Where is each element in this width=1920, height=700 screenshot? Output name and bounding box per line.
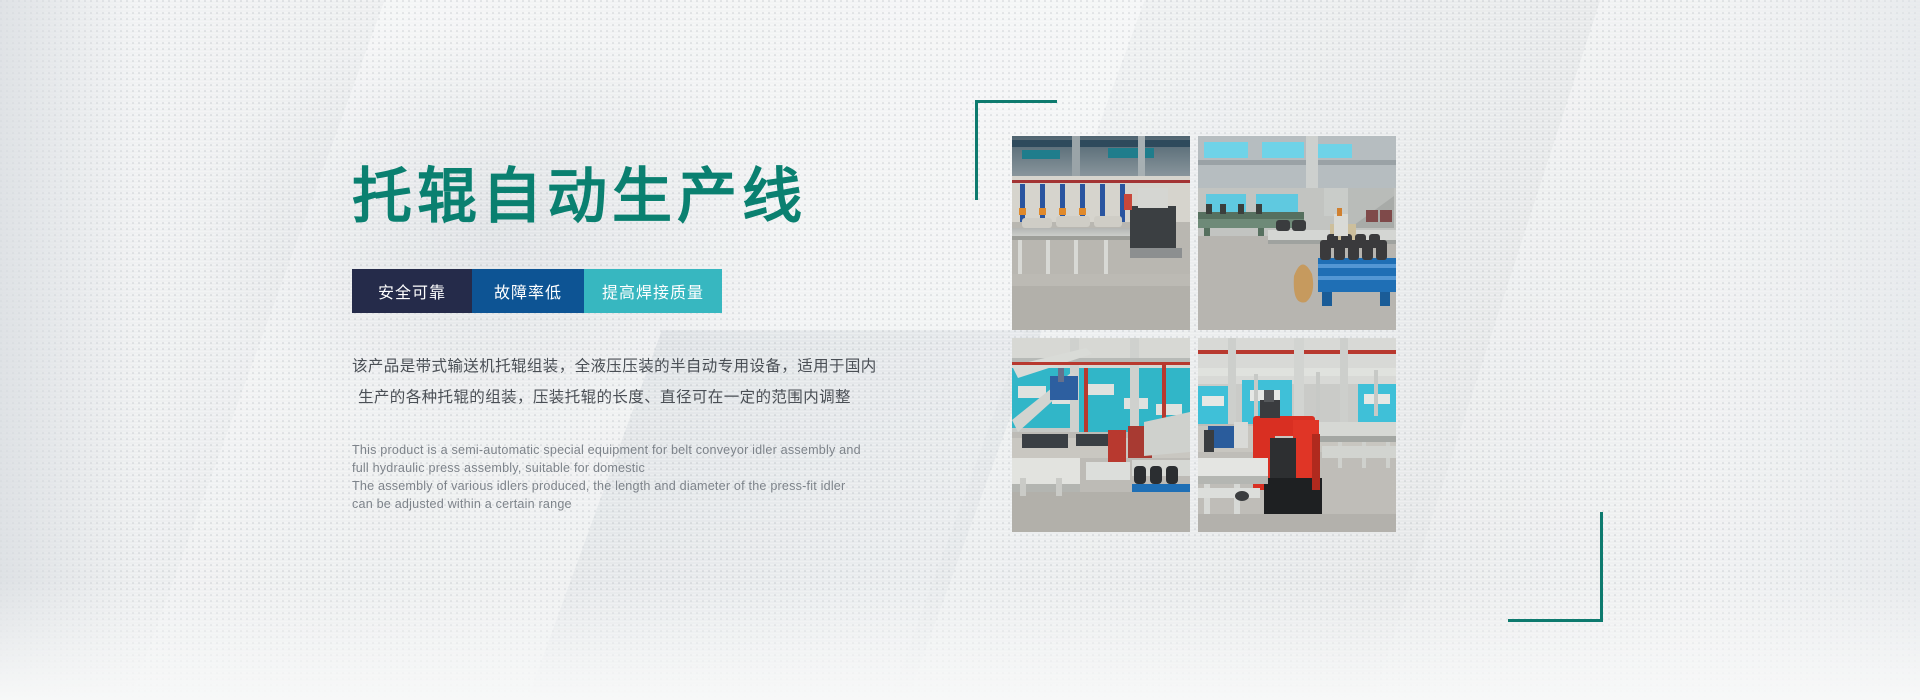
description-cn-line: 生产的各种托辊的组装，压装托辊的长度、直径可在一定的范围内调整	[352, 382, 932, 413]
page-title: 托辊自动生产线	[352, 165, 932, 229]
decor-vignette-left	[0, 0, 140, 700]
gallery-photo-roller-bin[interactable]	[1198, 136, 1396, 330]
description-en-line: The assembly of various idlers produced,…	[352, 477, 932, 495]
description-chinese: 该产品是带式输送机托辊组装，全液压压装的半自动专用设备，适用于国内 生产的各种托…	[352, 351, 932, 413]
decor-vignette-right	[1700, 0, 1920, 700]
description-english: This product is a semi-automatic special…	[352, 441, 932, 513]
feature-tag-group: 安全可靠 故障率低 提高焊接质量	[352, 269, 722, 313]
photo-3-image	[1012, 338, 1190, 532]
background-scanlines	[0, 0, 1920, 700]
description-cn-line: 该产品是带式输送机托辊组装，全液压压装的半自动专用设备，适用于国内	[352, 351, 932, 382]
description-en-line: full hydraulic press assembly, suitable …	[352, 459, 932, 477]
description-en-line: can be adjusted within a certain range	[352, 495, 932, 513]
gallery-photo-conveyor-line[interactable]	[1012, 136, 1190, 330]
photo-4-image	[1198, 338, 1396, 532]
feature-tag-safety[interactable]: 安全可靠	[352, 269, 472, 313]
background-dot-pattern	[0, 0, 1920, 700]
photo-grid	[1012, 136, 1412, 536]
product-banner: 托辊自动生产线 安全可靠 故障率低 提高焊接质量 该产品是带式输送机托辊组装，全…	[0, 0, 1920, 700]
photo-1-image	[1012, 136, 1190, 330]
gallery-photo-red-press-machine[interactable]	[1198, 338, 1396, 532]
photo-2-image	[1198, 136, 1396, 330]
feature-tag-weld-quality[interactable]: 提高焊接质量	[584, 269, 722, 313]
bottom-fade	[0, 580, 1920, 700]
description-en-line: This product is a semi-automatic special…	[352, 441, 932, 459]
gallery-photo-factory-hall[interactable]	[1012, 338, 1190, 532]
banner-text-column: 托辊自动生产线 安全可靠 故障率低 提高焊接质量 该产品是带式输送机托辊组装，全…	[352, 165, 932, 513]
photo-gallery	[975, 100, 1485, 560]
feature-tag-low-failure[interactable]: 故障率低	[472, 269, 584, 313]
corner-bracket-bottom-right-icon	[1508, 512, 1603, 622]
